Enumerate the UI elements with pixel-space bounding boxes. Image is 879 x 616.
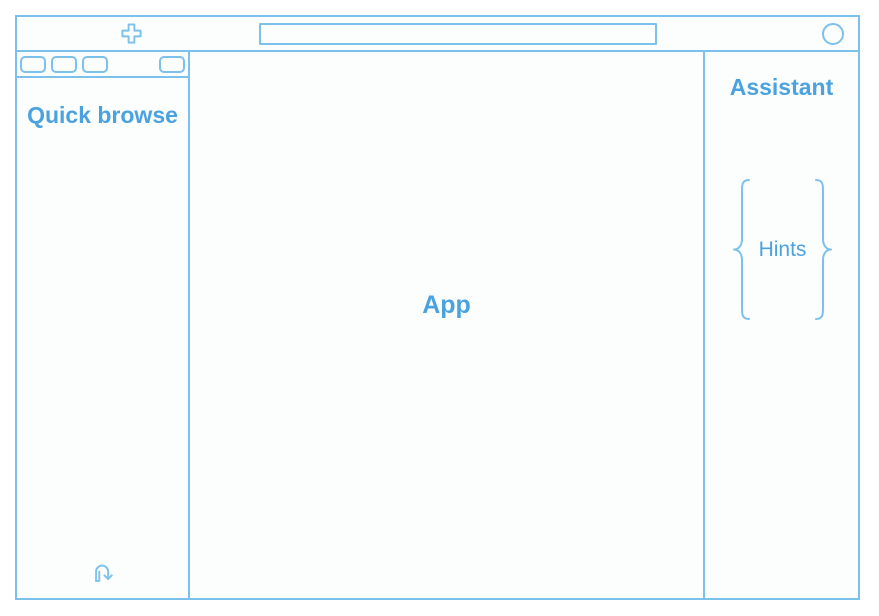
wireframe-window: Quick browse App Assistant [15, 15, 860, 600]
plus-icon [120, 22, 143, 45]
app-canvas[interactable]: App [190, 52, 703, 598]
sidebar-toolbar [17, 52, 188, 78]
left-curly-brace-icon [731, 177, 753, 322]
sidebar-content: Quick browse [17, 78, 188, 598]
sidebar-toolbar-overflow-button[interactable] [159, 56, 185, 73]
assistant-panel: Assistant Hints [703, 52, 858, 598]
right-curly-brace-icon [812, 177, 834, 322]
sidebar-panel: Quick browse [17, 52, 190, 598]
sidebar-toolbar-button-1[interactable] [20, 56, 46, 73]
assistant-title: Assistant [705, 74, 858, 101]
hints-block: Hints [715, 177, 850, 322]
u-turn-arrow-icon[interactable] [90, 560, 116, 586]
new-tab-button[interactable] [101, 17, 161, 50]
hints-label: Hints [753, 238, 813, 262]
quick-browse-title: Quick browse [17, 100, 188, 130]
top-bar [17, 17, 858, 52]
body-row: Quick browse App Assistant [17, 52, 858, 598]
search-input[interactable] [259, 23, 657, 45]
sidebar-toolbar-button-3[interactable] [82, 56, 108, 73]
app-label: App [422, 291, 471, 320]
account-avatar-icon[interactable] [822, 23, 844, 45]
sidebar-footer [17, 560, 188, 586]
sidebar-toolbar-button-2[interactable] [51, 56, 77, 73]
